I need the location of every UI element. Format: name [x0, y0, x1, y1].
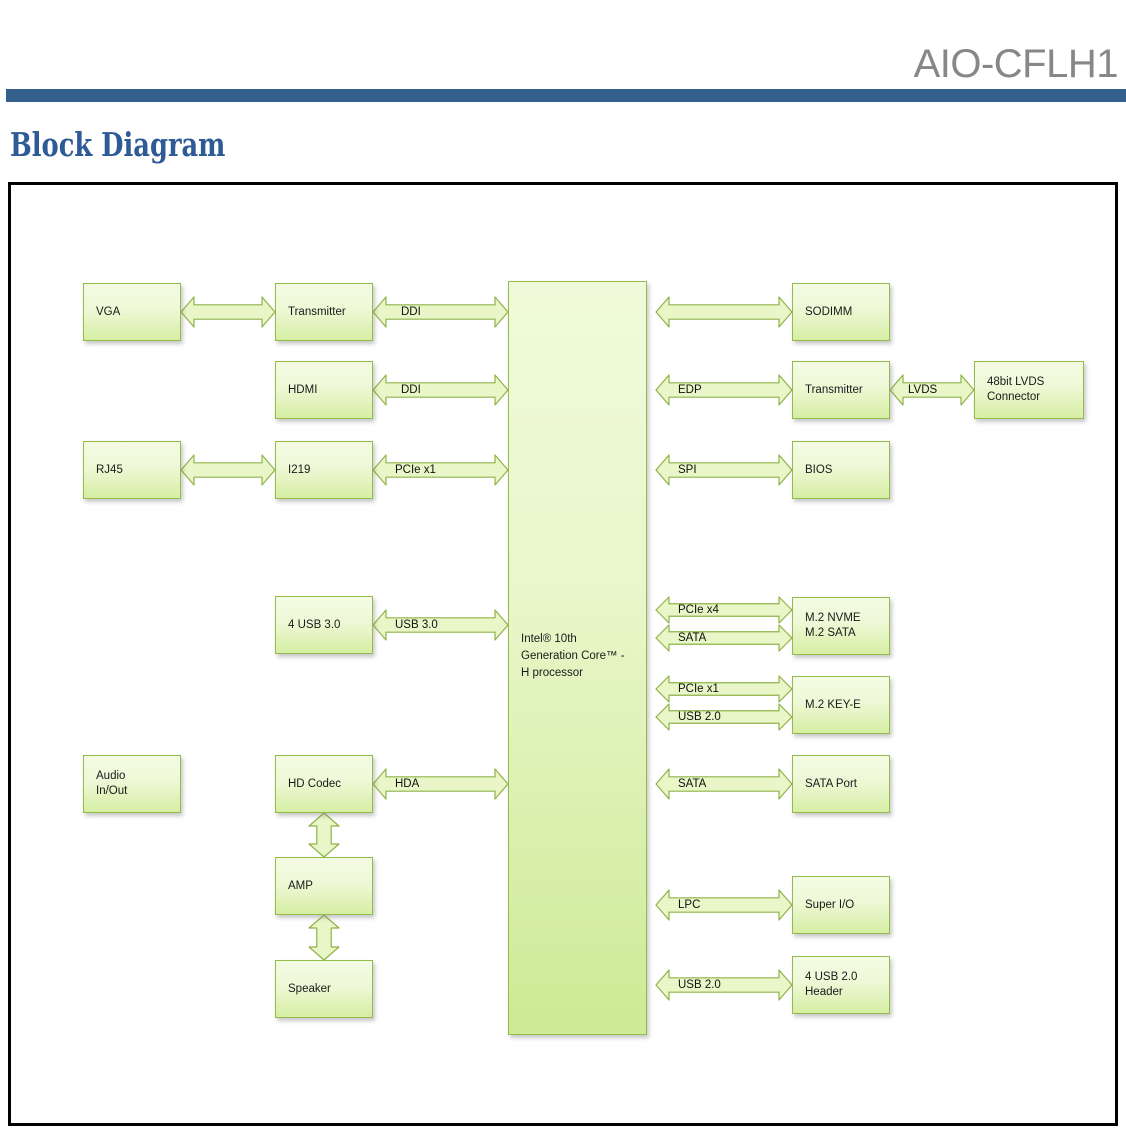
block-label-usb3: 4 USB 3.0: [288, 618, 340, 633]
block-speaker: Speaker: [275, 960, 373, 1018]
block-sodimm: SODIMM: [792, 283, 890, 341]
block-label-hdmi: HDMI: [288, 383, 317, 398]
connector-arrow-codec-amp: [309, 813, 339, 857]
connector-arrow-usb3-link: [373, 610, 508, 640]
block-label-vga: VGA: [96, 305, 120, 320]
block-cpu-label: Intel® 10th Generation Core™ - H process…: [521, 631, 639, 682]
block-label-hd_codec: HD Codec: [288, 777, 341, 792]
page-title: Block Diagram: [10, 124, 225, 166]
block-usb3: 4 USB 3.0: [275, 596, 373, 654]
block-i219: I219: [275, 441, 373, 499]
block-label-m2_nvme: M.2 NVME M.2 SATA: [805, 611, 861, 641]
connector-arrow-vga-transmitter: [181, 297, 275, 327]
connector-arrow-cpu-lpc: [656, 890, 792, 920]
block-label-super_io: Super I/O: [805, 898, 854, 913]
connector-arrow-cpu-pcie-x1-keye: [656, 676, 792, 702]
block-cpu: Intel® 10th Generation Core™ - H process…: [508, 281, 647, 1035]
connector-arrow-amp-speaker: [309, 915, 339, 960]
connector-arrow-i219-pcie: [373, 455, 508, 485]
block-sata_port: SATA Port: [792, 755, 890, 813]
block-hdmi: HDMI: [275, 361, 373, 419]
block-label-amp: AMP: [288, 879, 313, 894]
block-label-i219: I219: [288, 463, 310, 478]
block-rj45: RJ45: [83, 441, 181, 499]
connector-arrow-cpu-pcie-x4: [656, 597, 792, 623]
block-label-audio_io: Audio In/Out: [96, 769, 127, 799]
block-m2_keye: M.2 KEY-E: [792, 676, 890, 734]
block-amp: AMP: [275, 857, 373, 915]
block-bios: BIOS: [792, 441, 890, 499]
connector-arrow-cpu-sodimm: [656, 297, 792, 327]
connector-arrow-rj45-i219: [181, 455, 275, 485]
block-label-lvds_connector: 48bit LVDS Connector: [987, 375, 1044, 405]
connector-arrow-cpu-usb20-header: [656, 970, 792, 1000]
block-diagram-canvas: DDIDDIPCIe x1USB 3.0HDAEDPLVDSSPIPCIe x4…: [11, 185, 1115, 1123]
header-rule-divider: [6, 89, 1126, 102]
page-header: AIO-CFLH1: [0, 0, 1126, 100]
connector-arrow-hdmi-ddi: [373, 375, 508, 405]
block-label-usb2_header: 4 USB 2.0 Header: [805, 970, 857, 1000]
block-diagram-frame: DDIDDIPCIe x1USB 3.0HDAEDPLVDSSPIPCIe x4…: [8, 182, 1118, 1126]
connector-arrow-transmitter-lvds: [890, 375, 974, 405]
block-m2_nvme: M.2 NVME M.2 SATA: [792, 597, 890, 655]
block-transmitter_l: Transmitter: [275, 283, 373, 341]
block-vga: VGA: [83, 283, 181, 341]
block-label-sata_port: SATA Port: [805, 777, 857, 792]
connector-arrow-cpu-sata-m2: [656, 625, 792, 651]
block-usb2_header: 4 USB 2.0 Header: [792, 956, 890, 1014]
block-label-speaker: Speaker: [288, 982, 331, 997]
connector-arrow-cpu-sata-port: [656, 769, 792, 799]
block-lvds_connector: 48bit LVDS Connector: [974, 361, 1084, 419]
block-label-transmitter_l: Transmitter: [288, 305, 346, 320]
block-transmitter_r: Transmitter: [792, 361, 890, 419]
connector-arrow-cpu-usb20-keye: [656, 704, 792, 730]
connector-arrow-cpu-edp: [656, 375, 792, 405]
connector-arrow-hda-link: [373, 769, 508, 799]
block-hd_codec: HD Codec: [275, 755, 373, 813]
model-title: AIO-CFLH1: [914, 40, 1118, 88]
connector-arrow-transmitter-ddi: [373, 297, 508, 327]
block-super_io: Super I/O: [792, 876, 890, 934]
block-audio_io: Audio In/Out: [83, 755, 181, 813]
block-label-rj45: RJ45: [96, 463, 123, 478]
connector-arrow-cpu-spi: [656, 455, 792, 485]
block-label-transmitter_r: Transmitter: [805, 383, 863, 398]
block-label-bios: BIOS: [805, 463, 832, 478]
block-label-m2_keye: M.2 KEY-E: [805, 698, 861, 713]
block-label-sodimm: SODIMM: [805, 305, 852, 320]
